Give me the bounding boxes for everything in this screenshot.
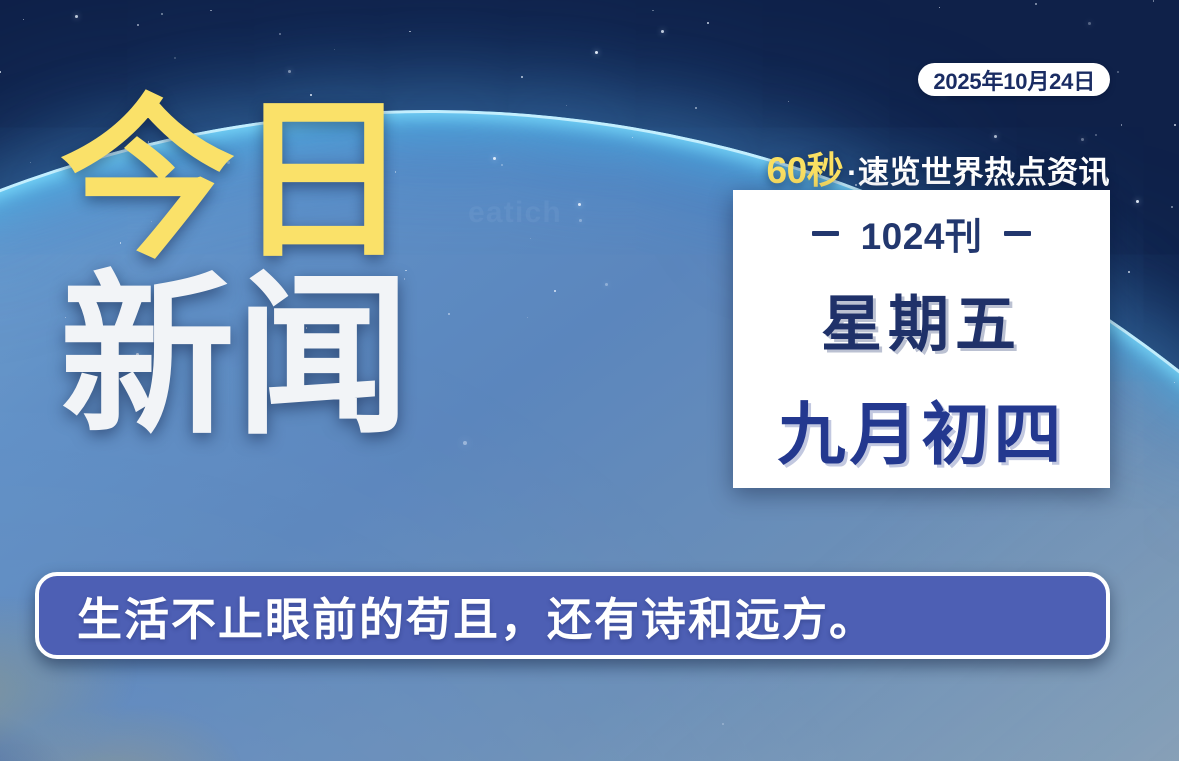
issue-row: 1024刊 — [812, 206, 1032, 260]
news-poster: 今日 新闻 eatich 2025年10月24日 60秒 ·速览世界热点资讯 1… — [0, 0, 1179, 761]
quote-banner: 生活不止眼前的苟且，还有诗和远方。 — [35, 572, 1110, 659]
watermark-text: eatich — [468, 196, 562, 230]
date-badge: 2025年10月24日 — [918, 63, 1110, 96]
weekday-label: 星期五 — [821, 274, 1022, 363]
lunar-date-label: 九月初四 — [777, 379, 1065, 478]
title-today: 今日 — [60, 96, 411, 268]
tagline: 60秒 ·速览世界热点资讯 — [767, 140, 1110, 194]
tagline-duration: 60秒 — [767, 140, 844, 194]
quote-text: 生活不止眼前的苟且，还有诗和远方。 — [77, 583, 876, 648]
info-card: 1024刊 星期五 九月初四 — [733, 190, 1110, 488]
issue-dash-left-icon — [812, 231, 839, 236]
date-badge-label: 2025年10月24日 — [933, 64, 1095, 96]
issue-dash-right-icon — [1004, 231, 1031, 236]
poster-title: 今日 新闻 — [60, 96, 411, 443]
title-news: 新闻 — [60, 272, 411, 444]
issue-number-label: 1024刊 — [861, 206, 983, 260]
tagline-subtitle: ·速览世界热点资讯 — [847, 147, 1110, 192]
